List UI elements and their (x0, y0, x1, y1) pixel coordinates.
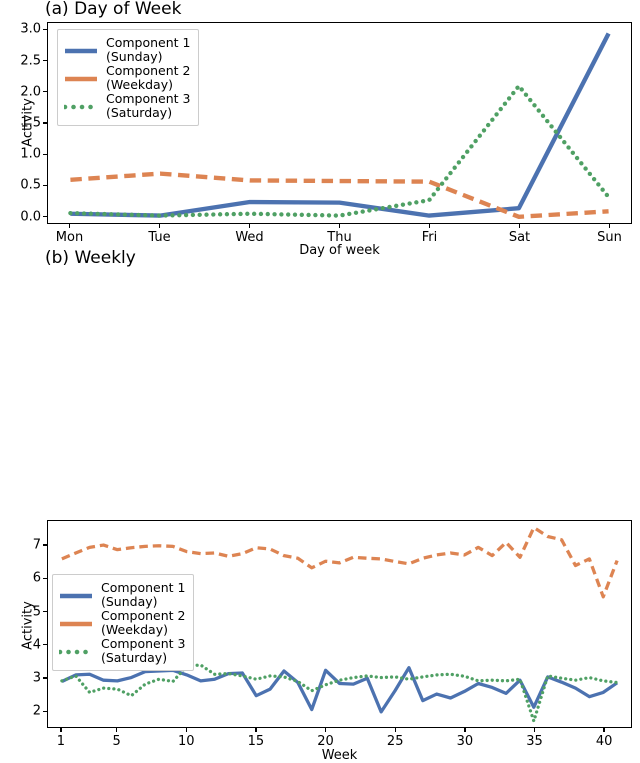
y-tick-label: 1.0 (0, 147, 41, 162)
y-tick-mark (43, 578, 47, 579)
x-tick-mark (249, 224, 250, 228)
legend-swatch-icon (59, 588, 93, 602)
legend-label-line1: Component 3 (106, 92, 191, 106)
panel-b-title: (b) Weekly (45, 248, 136, 268)
y-tick-mark (43, 185, 47, 186)
legend-label-line1: Component 1 (106, 36, 191, 50)
x-tick-mark (519, 224, 520, 228)
legend-entry-3: Component 3(Saturday) (59, 637, 186, 664)
panel-a-title: (a) Day of Week (45, 0, 181, 19)
x-tick-label: 30 (457, 734, 474, 749)
series-line-1 (62, 668, 617, 712)
y-tick-label: 1.5 (0, 116, 41, 131)
y-tick-mark (43, 154, 47, 155)
x-tick-label: Wed (235, 230, 263, 245)
x-tick-mark (186, 728, 187, 732)
legend-entry-1: Component 1(Sunday) (64, 36, 191, 63)
legend-label-line2: (Weekday) (101, 623, 186, 637)
legend-entry-1: Component 1(Sunday) (59, 581, 186, 608)
legend-swatch-icon (64, 43, 98, 57)
y-tick-label: 6 (0, 571, 41, 586)
y-tick-label: 3.0 (0, 22, 41, 37)
y-tick-mark (43, 91, 47, 92)
y-tick-mark (43, 122, 47, 123)
legend-label-line2: (Weekday) (106, 78, 191, 92)
x-tick-label: 1 (57, 734, 65, 749)
x-tick-label: Tue (148, 230, 170, 245)
x-tick-mark (255, 728, 256, 732)
x-tick-label: 5 (113, 734, 121, 749)
x-tick-label: 10 (178, 734, 195, 749)
x-tick-label: 40 (596, 734, 613, 749)
x-tick-label: 15 (248, 734, 265, 749)
x-tick-mark (534, 728, 535, 732)
legend-swatch-icon (59, 644, 93, 658)
x-tick-mark (609, 224, 610, 228)
y-tick-label: 0.5 (0, 178, 41, 193)
x-tick-label: Fri (422, 230, 438, 245)
y-tick-label: 2.5 (0, 53, 41, 68)
legend-label-line1: Component 1 (101, 581, 186, 595)
y-tick-label: 5 (0, 604, 41, 619)
legend-entry-2: Component 2(Weekday) (59, 609, 186, 636)
legend-label-line1: Component 2 (106, 64, 191, 78)
legend-label: Component 2(Weekday) (101, 609, 186, 636)
x-tick-mark (69, 224, 70, 228)
legend-label-line2: (Sunday) (101, 595, 186, 609)
legend-label-line1: Component 2 (101, 609, 186, 623)
y-tick-mark (43, 677, 47, 678)
x-tick-mark (116, 728, 117, 732)
x-tick-mark (159, 224, 160, 228)
y-tick-label: 0.0 (0, 209, 41, 224)
legend-label-line2: (Saturday) (101, 651, 186, 665)
panel-b-y-axis-label: Activity (21, 576, 36, 676)
panel-weekly: (b) Weekly Activity Week 234567151015202… (0, 248, 640, 520)
legend-swatch-icon (64, 99, 98, 113)
x-tick-mark (395, 728, 396, 732)
legend-label: Component 3(Saturday) (106, 92, 191, 119)
y-tick-mark (43, 60, 47, 61)
panel-b-x-axis-label: Week (47, 748, 632, 763)
x-tick-mark (429, 224, 430, 228)
y-tick-label: 3 (0, 671, 41, 686)
x-tick-mark (325, 728, 326, 732)
legend-entry-2: Component 2(Weekday) (64, 64, 191, 91)
y-tick-mark (43, 611, 47, 612)
y-tick-label: 4 (0, 637, 41, 652)
series-line-3 (62, 665, 617, 721)
x-tick-mark (464, 728, 465, 732)
x-tick-mark (339, 224, 340, 228)
figure-canvas: (a) Day of Week Activity Day of week 0.0… (0, 0, 640, 520)
x-tick-label: 35 (526, 734, 543, 749)
legend-label: Component 1(Sunday) (106, 36, 191, 63)
panel-b-legend: Component 1(Sunday)Component 2(Weekday)C… (52, 574, 194, 671)
x-tick-label: Sat (509, 230, 530, 245)
legend-label: Component 1(Sunday) (101, 581, 186, 608)
y-tick-label: 7 (0, 537, 41, 552)
legend-swatch-icon (59, 616, 93, 630)
legend-label-line2: (Sunday) (106, 50, 191, 64)
x-tick-mark (60, 728, 61, 732)
x-tick-label: 20 (317, 734, 334, 749)
legend-label: Component 3(Saturday) (101, 637, 186, 664)
y-tick-mark (43, 711, 47, 712)
x-tick-label: Mon (56, 230, 83, 245)
y-tick-mark (43, 644, 47, 645)
y-tick-label: 2 (0, 704, 41, 719)
x-tick-mark (603, 728, 604, 732)
legend-label: Component 2(Weekday) (106, 64, 191, 91)
legend-swatch-icon (64, 71, 98, 85)
legend-label-line1: Component 3 (101, 637, 186, 651)
panel-a-legend: Component 1(Sunday)Component 2(Weekday)C… (57, 29, 199, 126)
y-tick-label: 2.0 (0, 84, 41, 99)
legend-label-line2: (Saturday) (106, 106, 191, 120)
y-tick-mark (43, 216, 47, 217)
legend-entry-3: Component 3(Saturday) (64, 92, 191, 119)
x-tick-label: 25 (387, 734, 404, 749)
x-tick-label: Sun (597, 230, 622, 245)
panel-day-of-week: (a) Day of Week Activity Day of week 0.0… (0, 0, 640, 262)
y-tick-mark (43, 29, 47, 30)
y-tick-mark (43, 544, 47, 545)
x-tick-label: Thu (327, 230, 351, 245)
